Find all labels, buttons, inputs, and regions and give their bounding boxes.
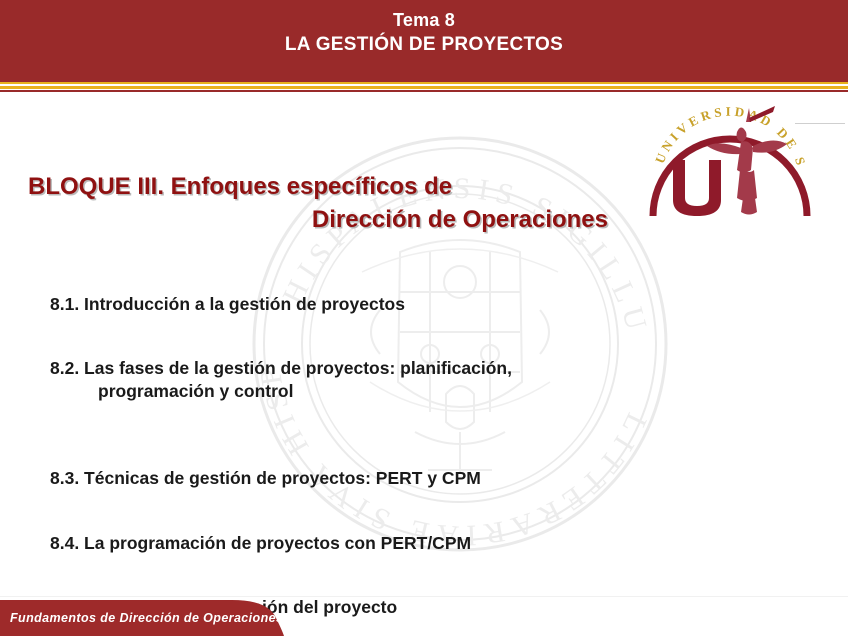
slide-header-band: Tema 8 LA GESTIÓN DE PROYECTOS <box>0 0 848 82</box>
toc-item: 8.2. Las fases de la gestión de proyecto… <box>50 335 710 426</box>
toc-item-continuation: programación y control <box>50 380 710 403</box>
toc-item-text: 8.3. Técnicas de gestión de proyectos: P… <box>50 468 481 488</box>
toc-item-text: 8.4. La programación de proyectos con PE… <box>50 533 471 553</box>
header-topic-title: LA GESTIÓN DE PROYECTOS <box>0 34 848 56</box>
toc-item: 8.4. La programación de proyectos con PE… <box>50 509 710 555</box>
toc-item: 8.3. Técnicas de gestión de proyectos: P… <box>50 445 710 491</box>
presentation-slide: HISPALENSIS SIGILLUM UNIVERSITATIS LITTE… <box>0 0 848 636</box>
footer-course-label: Fundamentos de Dirección de Operaciones <box>10 611 283 625</box>
block-title-line-2: Dirección de Operaciones <box>28 203 618 236</box>
toc-item: 8.1. Introducción a la gestión de proyec… <box>50 270 710 316</box>
block-title: BLOQUE III. Enfoques específicos de Dire… <box>28 170 618 236</box>
toc-item-text: 8.1. Introducción a la gestión de proyec… <box>50 294 405 314</box>
slide-header-titles: Tema 8 LA GESTIÓN DE PROYECTOS <box>0 10 848 56</box>
toc-item-text: 8.2. Las fases de la gestión de proyecto… <box>50 358 512 378</box>
universidad-de-sevilla-logo: UNIVERSIDAD DE SEVILLA <box>645 88 815 218</box>
table-of-contents: 8.1. Introducción a la gestión de proyec… <box>50 270 710 636</box>
header-topic-number: Tema 8 <box>0 10 848 31</box>
block-title-line-1: BLOQUE III. Enfoques específicos de <box>28 170 618 203</box>
